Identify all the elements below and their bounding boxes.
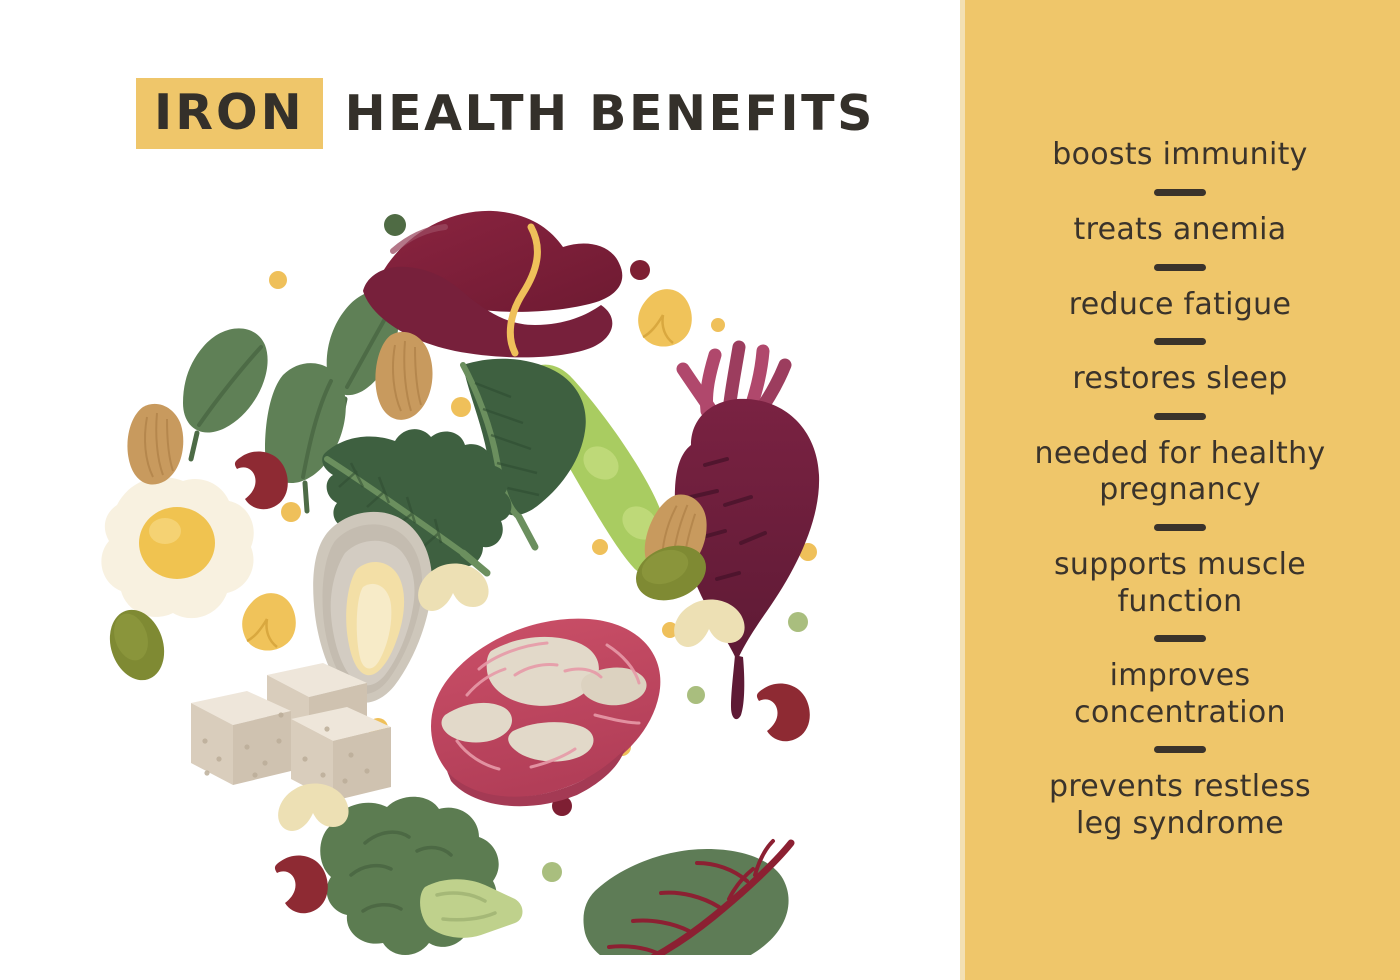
benefit-item: restores sleep bbox=[986, 361, 1374, 398]
chickpea-2 bbox=[242, 593, 296, 650]
swiss-chard-leaf bbox=[583, 841, 791, 955]
benefit-item: supports muscle function bbox=[986, 547, 1374, 620]
iron-badge: IRON bbox=[136, 78, 323, 149]
benefits-list-panel: boosts immunity treats anemia reduce fat… bbox=[960, 0, 1400, 980]
benefit-item: reduce fatigue bbox=[986, 287, 1374, 324]
broccoli bbox=[320, 797, 522, 955]
kidney-bean-2 bbox=[757, 683, 810, 741]
red-meat-steak bbox=[431, 619, 660, 807]
benefit-separator bbox=[1154, 746, 1206, 753]
benefit-item: boosts immunity bbox=[986, 137, 1374, 174]
iron-badge-label: IRON bbox=[154, 88, 305, 137]
benefit-item: improves concentration bbox=[986, 658, 1374, 731]
benefit-item: treats anemia bbox=[986, 212, 1374, 249]
almond-2 bbox=[127, 404, 183, 485]
benefit-separator bbox=[1154, 338, 1206, 345]
almond-1 bbox=[375, 332, 432, 420]
title-rest-label: HEALTH BENEFITS bbox=[345, 89, 875, 138]
tofu-cubes bbox=[191, 663, 391, 801]
illustration-panel: IRON HEALTH BENEFITS bbox=[0, 0, 960, 980]
benefit-separator bbox=[1154, 189, 1206, 196]
chickpea-1 bbox=[638, 289, 692, 346]
spinach-leaf-2 bbox=[183, 328, 268, 459]
benefit-item: prevents restless leg syndrome bbox=[986, 769, 1374, 842]
fried-egg bbox=[101, 477, 253, 618]
iron-foods-illustration bbox=[95, 175, 885, 955]
benefit-separator bbox=[1154, 264, 1206, 271]
infographic-poster: IRON HEALTH BENEFITS bbox=[0, 0, 1400, 980]
benefit-separator bbox=[1154, 635, 1206, 642]
page-title: IRON HEALTH BENEFITS bbox=[136, 78, 875, 149]
kidney-bean-3 bbox=[275, 855, 328, 913]
benefit-separator bbox=[1154, 524, 1206, 531]
benefit-item: needed for healthy pregnancy bbox=[986, 436, 1374, 509]
benefit-separator bbox=[1154, 413, 1206, 420]
